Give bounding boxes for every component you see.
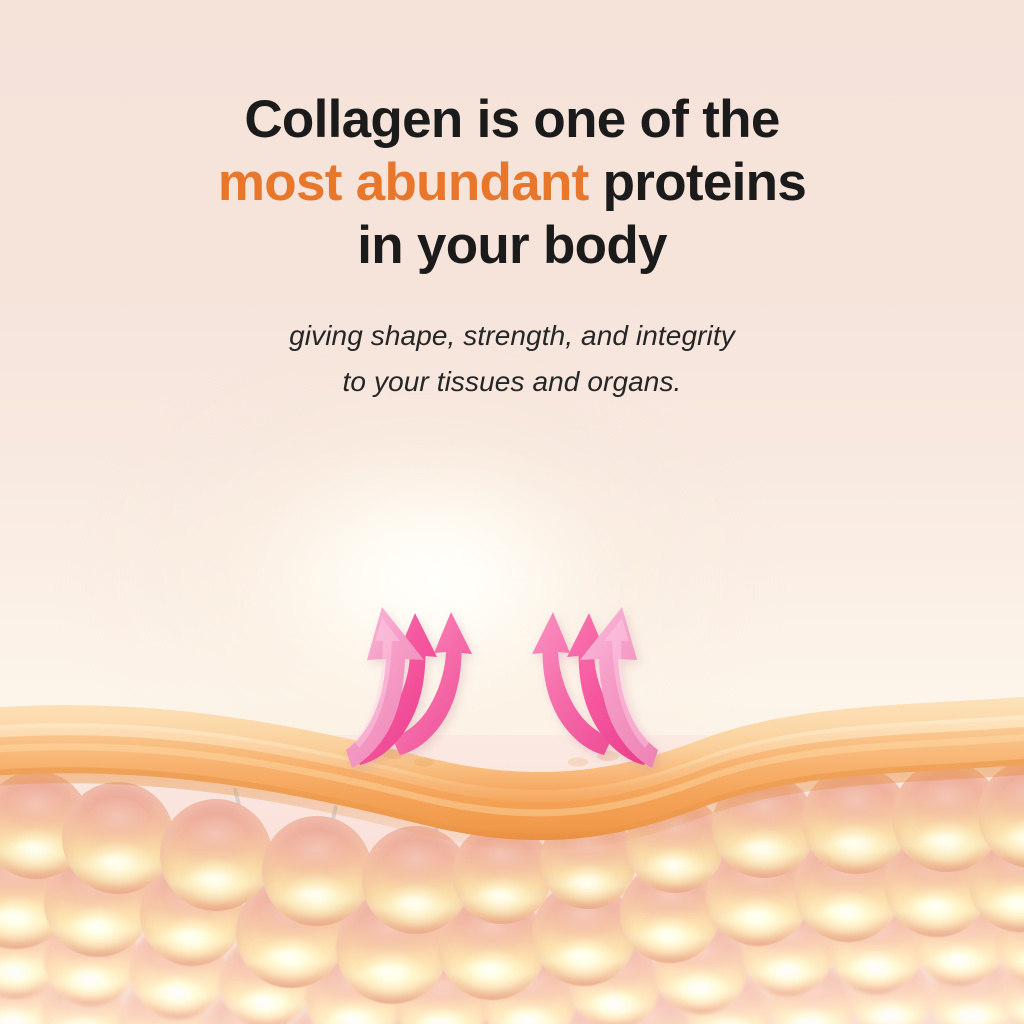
collagen-sphere — [540, 813, 636, 909]
headline-line-2-rest: proteins — [589, 153, 807, 212]
headline-accent-text: most abundant — [218, 153, 589, 212]
headline-line-2: most abundant proteins — [0, 151, 1024, 214]
subtitle-line-2: to your tissues and organs. — [0, 359, 1024, 405]
headline-line-3: in your body — [0, 214, 1024, 277]
collagen-sphere — [626, 795, 724, 893]
background-radial-glow-core — [230, 430, 650, 730]
collagen-sphere — [262, 816, 372, 926]
infographic-canvas: Collagen is one of the most abundant pro… — [0, 0, 1024, 1024]
page-subtitle: giving shape, strength, and integrity to… — [0, 313, 1024, 405]
collagen-sphere-matrix — [0, 735, 1024, 1024]
collagen-sphere — [62, 782, 174, 894]
collagen-sphere — [712, 774, 816, 878]
collagen-sphere — [452, 824, 552, 924]
collagen-sphere — [160, 799, 272, 911]
subtitle-line-1: giving shape, strength, and integrity — [0, 313, 1024, 359]
headline-line-1: Collagen is one of the — [0, 88, 1024, 151]
page-title: Collagen is one of the most abundant pro… — [0, 88, 1024, 277]
